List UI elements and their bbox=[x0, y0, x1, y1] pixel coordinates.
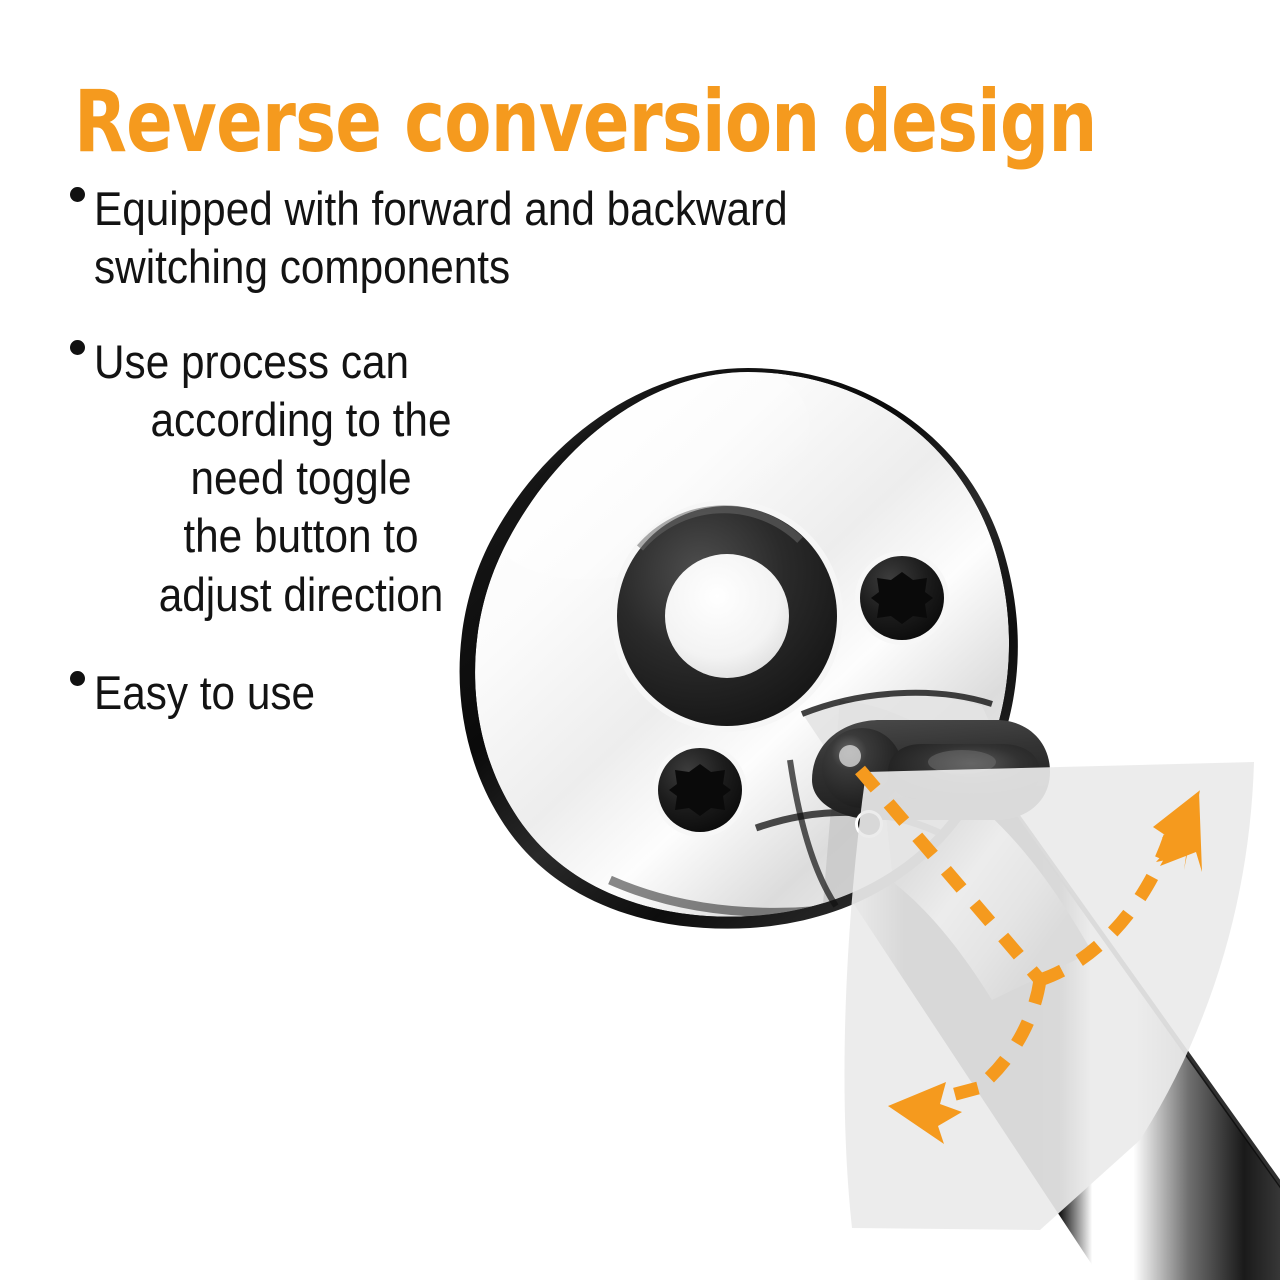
product-infographic: Reverse conversion design Equipped with … bbox=[0, 0, 1280, 1280]
torx-screw-upper bbox=[855, 551, 949, 645]
torx-screw-lower bbox=[653, 743, 747, 837]
socket-drive-ring bbox=[611, 500, 843, 732]
ratchet-wrench-illustration bbox=[0, 0, 1280, 1280]
